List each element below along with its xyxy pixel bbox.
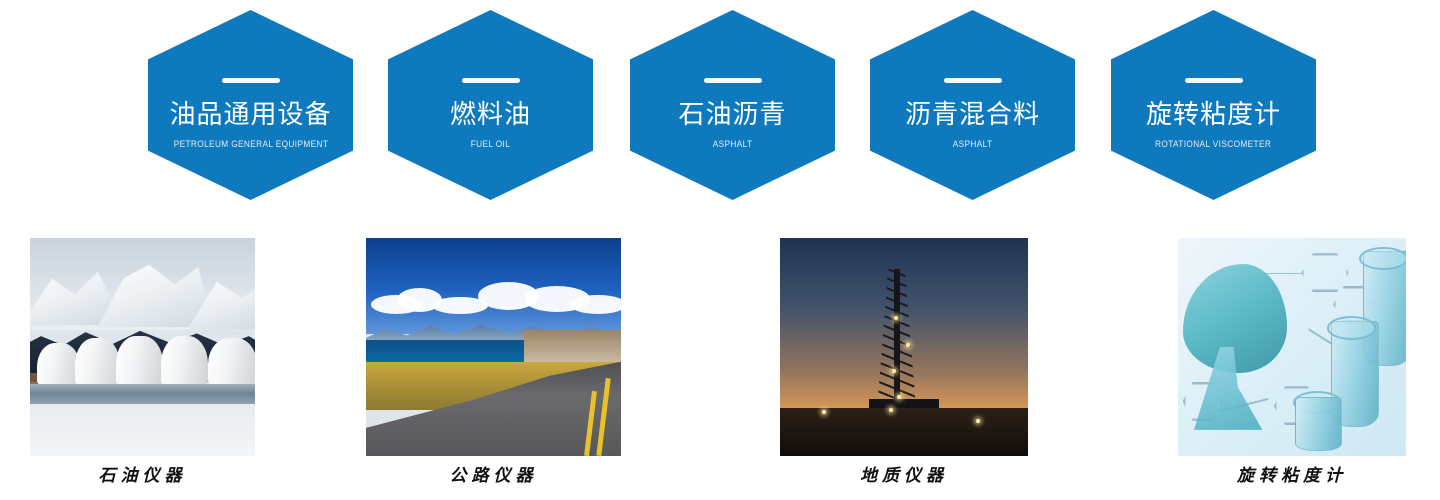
category-subtitle: ASPHALT [953, 139, 993, 150]
category-card-asphalt[interactable]: 石油沥青 ASPHALT [630, 10, 835, 200]
gallery-image-rotational-viscometer[interactable] [1178, 238, 1406, 456]
gallery-image-petroleum-instruments[interactable] [30, 238, 255, 456]
divider-rule-icon [944, 78, 1002, 83]
category-subtitle: ASPHALT [713, 139, 753, 150]
gallery-caption-geological-instruments: 地质仪器 [780, 466, 1028, 486]
divider-rule-icon [704, 78, 762, 83]
category-title: 燃料油 [450, 99, 531, 129]
photo-scene-drilling-rig-dusk [780, 238, 1028, 456]
gallery-image-geological-instruments[interactable] [780, 238, 1028, 456]
category-card-rotational-viscometer[interactable]: 旋转粘度计 ROTATIONAL VISCOMETER [1111, 10, 1316, 200]
divider-rule-icon [462, 78, 520, 83]
category-card-petroleum-general-equipment[interactable]: 油品通用设备 PETROLEUM GENERAL EQUIPMENT [148, 10, 353, 200]
category-subtitle: PETROLEUM GENERAL EQUIPMENT [173, 139, 328, 150]
category-title: 沥青混合料 [905, 99, 1040, 129]
gallery-caption-rotational-viscometer: 旋转粘度计 [1178, 466, 1406, 486]
category-title: 旋转粘度计 [1146, 99, 1281, 129]
category-card-asphalt-mixture[interactable]: 沥青混合料 ASPHALT [870, 10, 1075, 200]
category-title: 石油沥青 [678, 99, 786, 129]
gallery-image-highway-instruments[interactable] [366, 238, 621, 456]
photo-scene-highway-lake-mountains [366, 238, 621, 456]
divider-rule-icon [222, 78, 280, 83]
category-card-fuel-oil[interactable]: 燃料油 FUEL OIL [388, 10, 593, 200]
category-title: 油品通用设备 [169, 99, 331, 129]
category-subtitle: ROTATIONAL VISCOMETER [1155, 139, 1271, 150]
gallery-caption-highway-instruments: 公路仪器 [366, 466, 621, 486]
photo-scene-lab-flask-chemistry [1178, 238, 1406, 456]
category-subtitle: FUEL OIL [471, 139, 510, 150]
photo-scene-snow-mountain-tank-farm [30, 238, 255, 456]
gallery-caption-petroleum-instruments: 石油仪器 [30, 466, 255, 486]
divider-rule-icon [1185, 78, 1243, 83]
category-showcase: 油品通用设备 PETROLEUM GENERAL EQUIPMENT 燃料油 F… [0, 0, 1440, 500]
